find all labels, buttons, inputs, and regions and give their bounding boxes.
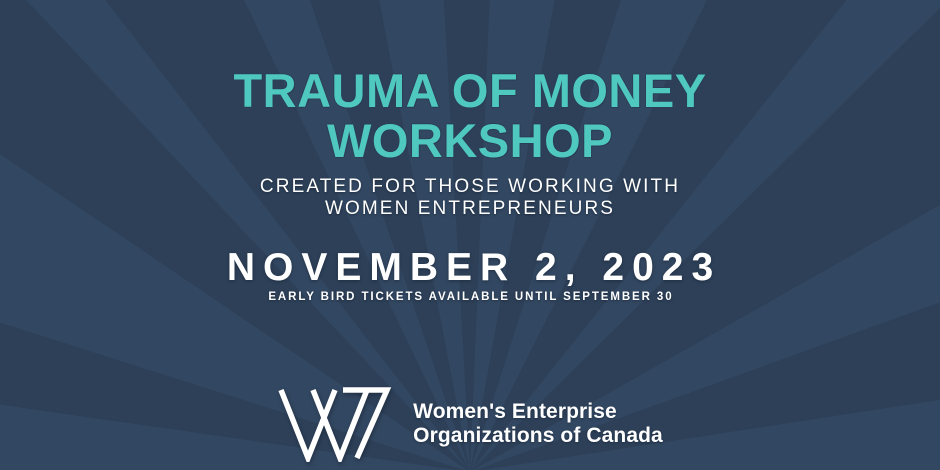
organization-name-line-2: Organizations of Canada [413, 424, 663, 448]
event-title-line-2: WORKSHOP [0, 116, 940, 166]
event-promo-banner: TRAUMA OF MONEY WORKSHOP CREATED FOR THO… [0, 0, 940, 470]
organization-name-line-1: Women's Enterprise [413, 400, 663, 424]
organization-logo-lockup: Women's Enterprise Organizations of Cana… [0, 386, 940, 462]
event-date-block: NOVEMBER 2, 2023 EARLY BIRD TICKETS AVAI… [0, 246, 940, 304]
early-bird-notice: EARLY BIRD TICKETS AVAILABLE UNTIL SEPTE… [0, 290, 940, 304]
organization-name: Women's Enterprise Organizations of Cana… [413, 400, 663, 448]
event-title: TRAUMA OF MONEY WORKSHOP [0, 66, 940, 166]
event-subtitle-line-2: WOMEN ENTREPRENEURS [0, 198, 940, 220]
weoc-monogram-icon [277, 386, 395, 462]
banner-content: TRAUMA OF MONEY WORKSHOP CREATED FOR THO… [0, 0, 940, 470]
event-title-line-1: TRAUMA OF MONEY [0, 66, 940, 116]
event-subtitle-line-1: CREATED FOR THOSE WORKING WITH [0, 176, 940, 198]
event-subtitle: CREATED FOR THOSE WORKING WITH WOMEN ENT… [0, 176, 940, 220]
event-date: NOVEMBER 2, 2023 [0, 246, 940, 289]
